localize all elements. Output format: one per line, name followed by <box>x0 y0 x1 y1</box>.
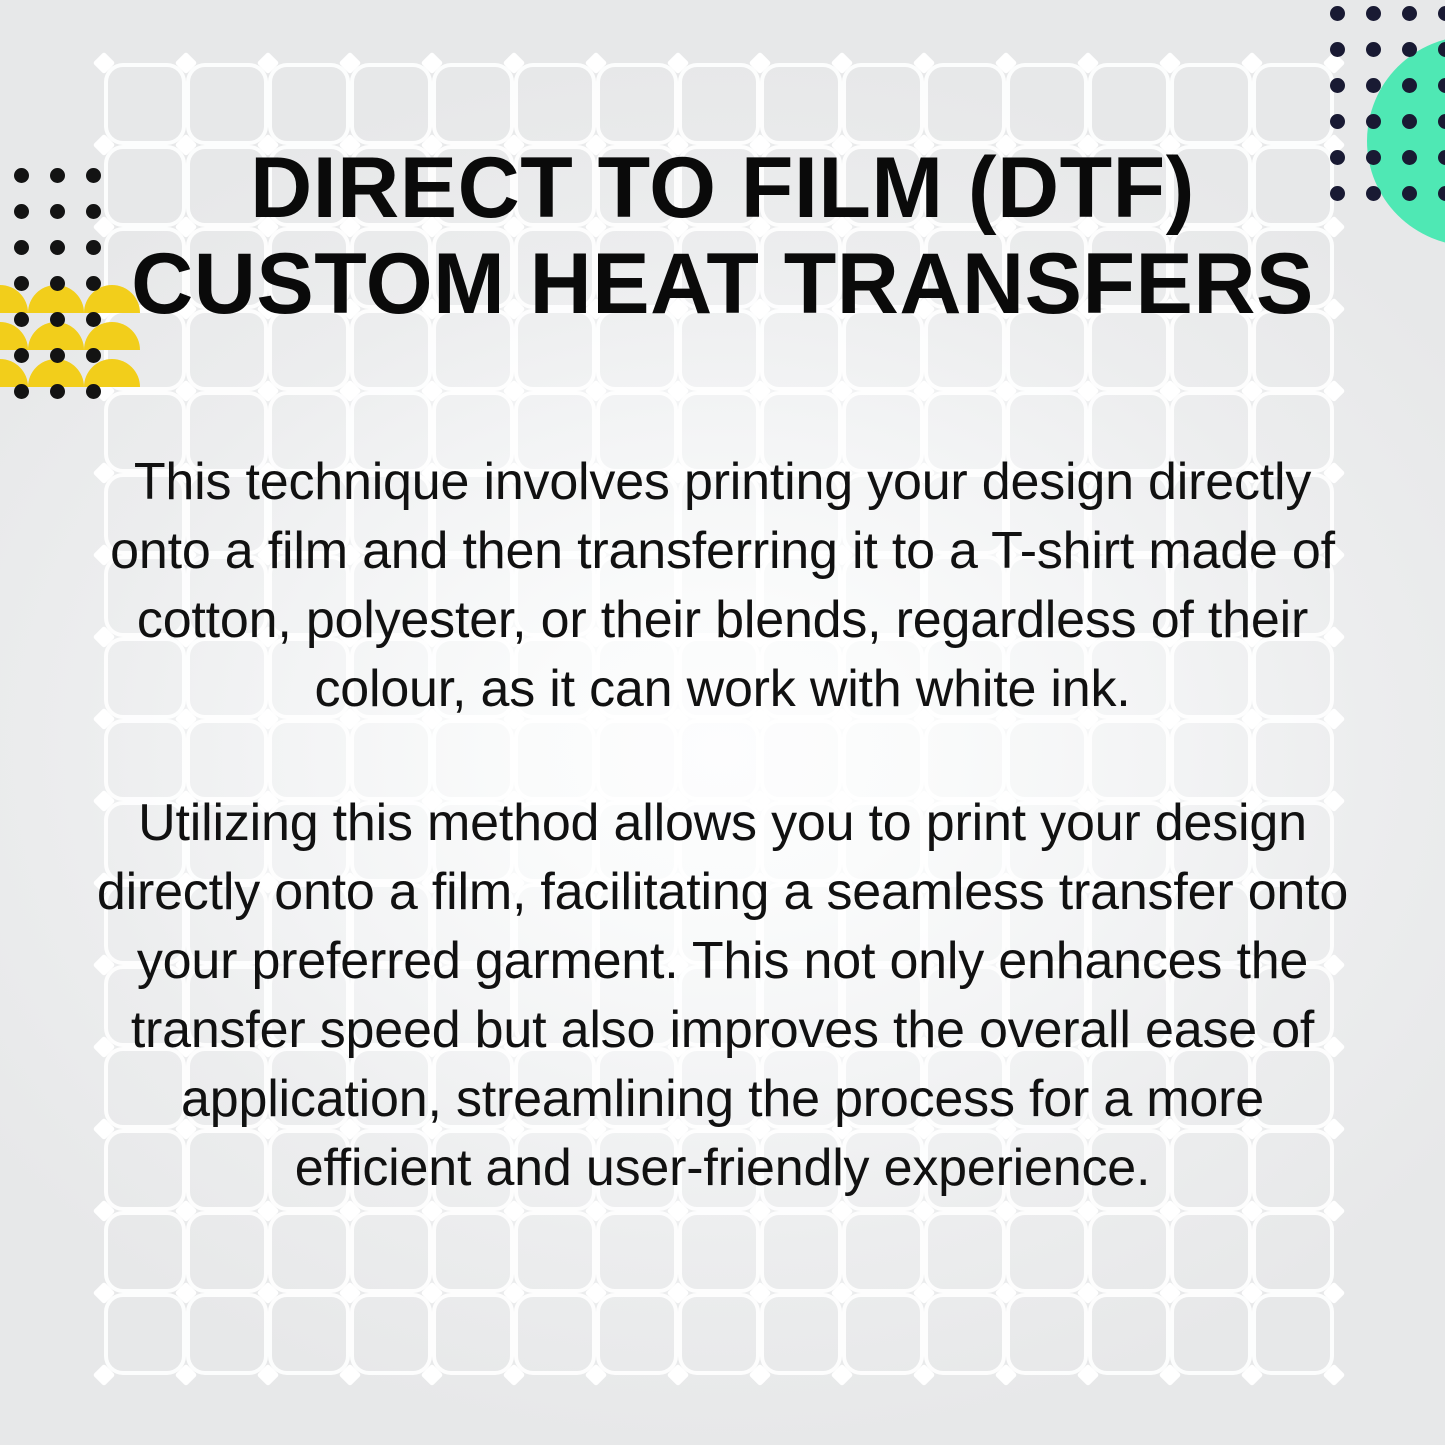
page-title: DIRECT TO FILM (DTF) CUSTOM HEAT TRANSFE… <box>110 140 1335 332</box>
title-line-1: DIRECT TO FILM (DTF) <box>110 140 1335 236</box>
poster-content: DIRECT TO FILM (DTF) CUSTOM HEAT TRANSFE… <box>0 0 1445 1445</box>
poster-canvas: DIRECT TO FILM (DTF) CUSTOM HEAT TRANSFE… <box>0 0 1445 1445</box>
body-copy: This technique involves printing your de… <box>95 448 1350 1203</box>
paragraph-2: Utilizing this method allows you to prin… <box>95 789 1350 1203</box>
title-line-2: CUSTOM HEAT TRANSFERS <box>110 236 1335 332</box>
paragraph-1: This technique involves printing your de… <box>95 448 1350 724</box>
